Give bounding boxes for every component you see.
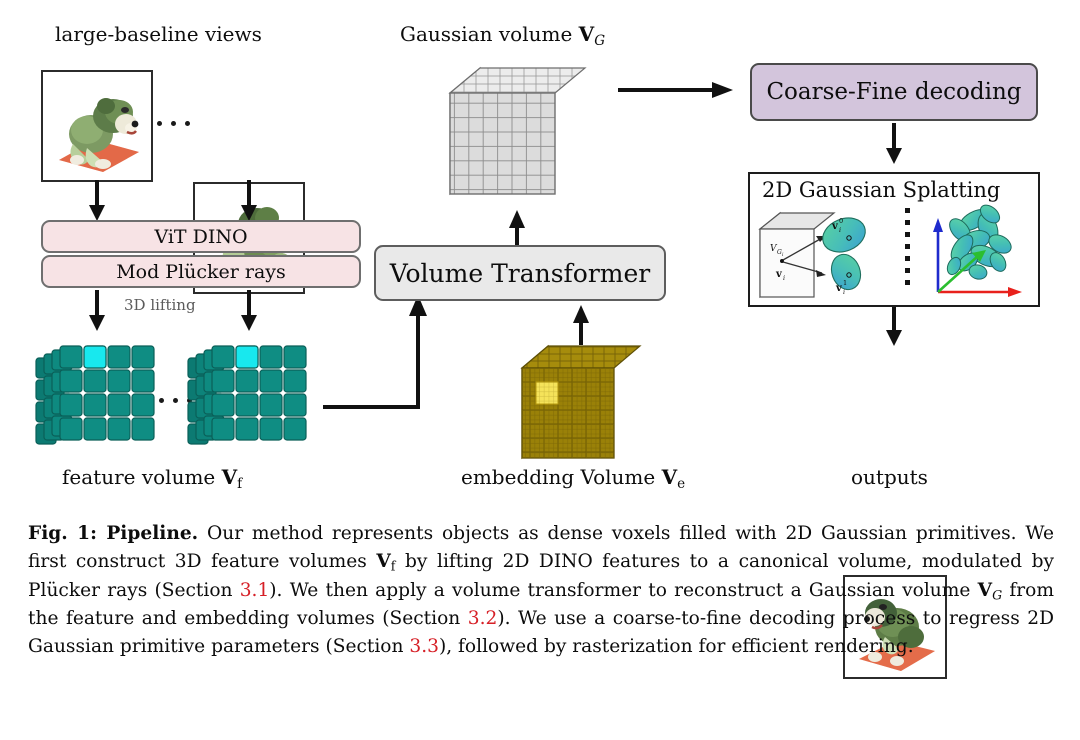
figure-caption: Fig. 1: Pipeline. Our method represents … bbox=[28, 520, 1054, 661]
section-reference: 3.1 bbox=[240, 580, 270, 601]
input-view-image-1 bbox=[41, 70, 153, 182]
arrow-splatting-to-outputs bbox=[882, 307, 906, 347]
gaussian-volume-symbol: V bbox=[579, 22, 595, 46]
feature-volume-subscript: f bbox=[237, 476, 242, 492]
svg-text:i: i bbox=[783, 274, 785, 282]
svg-text:0: 0 bbox=[839, 217, 843, 225]
section-reference: 3.3 bbox=[409, 636, 439, 657]
stage-coarse-fine-decoding[interactable]: Coarse-Fine decoding bbox=[750, 63, 1038, 121]
svg-text:i: i bbox=[839, 226, 841, 234]
lettuce-dog-view-1-graphic bbox=[43, 72, 151, 180]
svg-text:1: 1 bbox=[843, 279, 847, 287]
caption-math-subscript: G bbox=[992, 587, 1002, 602]
svg-text:v: v bbox=[775, 269, 783, 280]
arrow-gaussian-volume-to-decoding bbox=[618, 78, 736, 102]
splatting-panel-title: 2D Gaussian Splatting bbox=[762, 178, 1000, 202]
svg-text:i: i bbox=[843, 288, 845, 296]
input-views-ellipsis bbox=[157, 121, 190, 126]
stage-vit-dino[interactable]: ViT DINO bbox=[41, 220, 361, 253]
embedding-volume-label: embedding Volume Ve bbox=[461, 465, 685, 492]
figure-label: Fig. 1: bbox=[28, 523, 97, 544]
feature-volume-symbol: V bbox=[222, 465, 238, 489]
left-column-heading: large-baseline views bbox=[55, 22, 262, 46]
embedding-volume-cube bbox=[516, 340, 646, 460]
figure-pipeline: large-baseline views bbox=[0, 0, 1080, 740]
lifting-label: 3D lifting bbox=[124, 296, 196, 314]
embedding-volume-symbol: V bbox=[662, 465, 678, 489]
svg-text:v: v bbox=[835, 283, 843, 294]
gaussian-volume-subscript: G bbox=[594, 33, 605, 49]
feature-volume-1 bbox=[34, 340, 164, 460]
embedding-volume-subscript: e bbox=[677, 476, 685, 492]
splat-voxel-and-ellipses-diagram: V G i v i v i 0 v i 1 bbox=[756, 205, 906, 303]
figure-title: Pipeline. bbox=[106, 523, 198, 544]
embedding-volume-label-text: embedding Volume bbox=[461, 465, 662, 489]
arrow-decoding-to-splatting bbox=[882, 123, 906, 165]
arrow-lifting-left bbox=[86, 290, 108, 332]
arrow-lifting-right bbox=[238, 290, 260, 332]
splat-cloud-with-axes bbox=[928, 200, 1036, 300]
feature-volume-2 bbox=[186, 340, 316, 460]
section-reference: 3.2 bbox=[468, 608, 498, 629]
output-label: outputs bbox=[851, 465, 928, 489]
caption-text: ). We then apply a volume transformer to… bbox=[269, 580, 977, 601]
arrow-view1-to-vit bbox=[86, 180, 108, 222]
stage-volume-transformer[interactable]: Volume Transformer bbox=[374, 245, 666, 301]
feature-volume-label-text: feature volume bbox=[62, 465, 222, 489]
gaussian-volume-heading-text: Gaussian volume bbox=[400, 22, 579, 46]
arrow-view2-to-vit bbox=[238, 180, 260, 222]
gaussian-volume-heading: Gaussian volume VG bbox=[400, 22, 605, 49]
svg-text:v: v bbox=[831, 221, 839, 232]
caption-text: ), followed by rasterization for efficie… bbox=[439, 636, 914, 657]
stage-mod-plucker-rays[interactable]: Mod Plücker rays bbox=[41, 255, 361, 288]
gaussian-volume-cube bbox=[440, 60, 600, 210]
caption-math-symbol: V bbox=[376, 551, 390, 572]
arrow-feature-volume-to-transformer bbox=[318, 290, 438, 420]
caption-math-symbol: V bbox=[978, 580, 992, 601]
arrow-embedding-volume-to-transformer bbox=[569, 305, 593, 345]
splat-vertical-ellipsis bbox=[905, 208, 910, 285]
feature-volume-label: feature volume Vf bbox=[62, 465, 242, 492]
